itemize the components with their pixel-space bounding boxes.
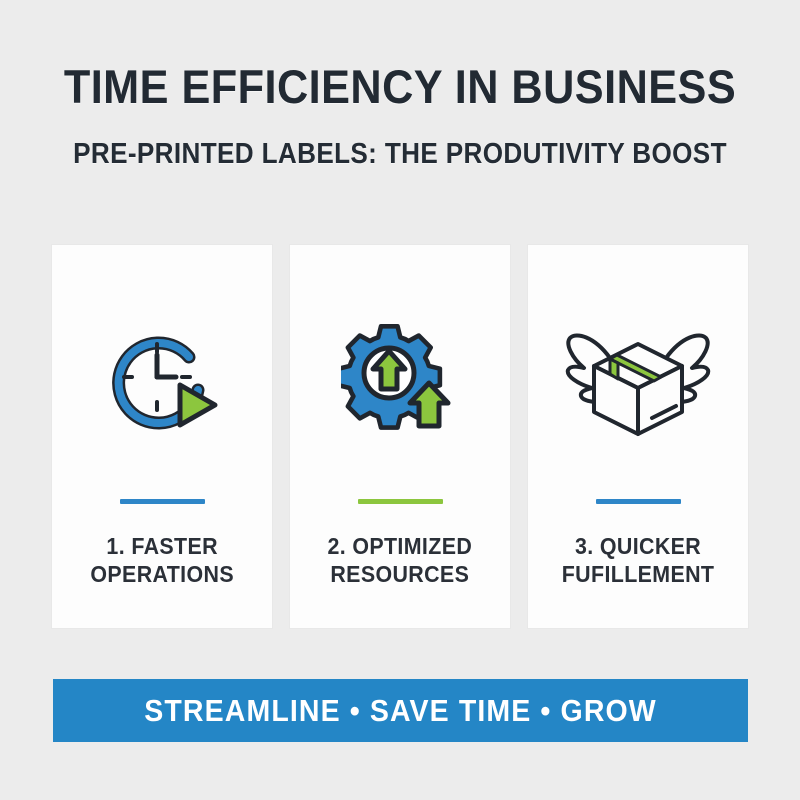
benefit-card-label: 3. QUICKER FUFILLEMENT <box>562 532 715 588</box>
gear-up-arrows-icon <box>310 317 490 447</box>
benefit-card-optimized-resources[interactable]: 2. OPTIMIZED RESOURCES <box>290 245 510 628</box>
benefit-cards-row: 1. FASTER OPERATIONS 2. OPTIMIZED RESOUR… <box>52 245 748 628</box>
infographic-canvas: TIME EFFICIENCY IN BUSINESS PRE-PRINTED … <box>0 0 800 800</box>
page-subtitle: PRE-PRINTED LABELS: THE PRODUTIVITY BOOS… <box>40 136 760 172</box>
card-divider <box>596 499 681 504</box>
footer-banner[interactable]: STREAMLINE • SAVE TIME • GROW <box>53 679 748 742</box>
clock-play-icon <box>72 317 252 447</box>
benefit-card-label: 2. OPTIMIZED RESOURCES <box>328 532 473 588</box>
winged-box-icon <box>548 317 728 447</box>
card-divider <box>120 499 205 504</box>
benefit-card-faster-operations[interactable]: 1. FASTER OPERATIONS <box>52 245 272 628</box>
page-title: TIME EFFICIENCY IN BUSINESS <box>32 60 768 114</box>
benefit-card-label: 1. FASTER OPERATIONS <box>90 532 234 588</box>
header-block: TIME EFFICIENCY IN BUSINESS PRE-PRINTED … <box>0 60 800 172</box>
footer-banner-text: STREAMLINE • SAVE TIME • GROW <box>144 693 657 729</box>
benefit-card-quicker-fulfillment[interactable]: 3. QUICKER FUFILLEMENT <box>528 245 748 628</box>
card-divider <box>358 499 443 504</box>
